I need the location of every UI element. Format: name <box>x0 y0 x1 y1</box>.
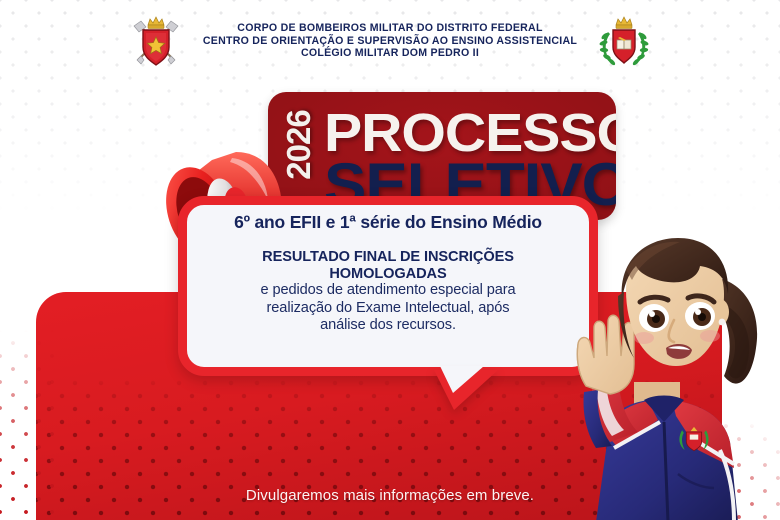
header-institution-text: CORPO DE BOMBEIROS MILITAR DO DISTRITO F… <box>184 22 596 60</box>
speech-bubble-content: 6º ano EFII e 1ª série do Ensino Médio R… <box>192 212 584 335</box>
poster-header: CORPO DE BOMBEIROS MILITAR DO DISTRITO F… <box>0 10 780 72</box>
colegio-militar-dom-pedro-ii-crest-icon <box>596 12 652 70</box>
header-line-2: CENTRO DE ORIENTAÇÃO E SUPERVISÃO AO ENS… <box>200 35 580 48</box>
header-line-1: CORPO DE BOMBEIROS MILITAR DO DISTRITO F… <box>200 22 580 35</box>
result-headline-1: RESULTADO FINAL DE INSCRIÇÕES <box>192 249 584 266</box>
waving-student-illustration <box>548 236 780 520</box>
cbmdf-coat-of-arms-icon <box>128 12 184 70</box>
announcement-speech-bubble: 6º ano EFII e 1ª série do Ensino Médio R… <box>178 196 598 416</box>
speech-bubble-tail-inner <box>440 366 484 393</box>
footer-note: Divulgaremos mais informações em breve. <box>0 487 780 504</box>
result-body-1: e pedidos de atendimento especial para <box>192 282 584 300</box>
result-body-3: análise dos recursos. <box>192 317 584 335</box>
result-headline-2: HOMOLOGADAS <box>192 266 584 283</box>
result-body-2: realização do Exame Intelectual, após <box>192 300 584 318</box>
grade-line: 6º ano EFII e 1ª série do Ensino Médio <box>192 212 584 233</box>
poster-canvas: CORPO DE BOMBEIROS MILITAR DO DISTRITO F… <box>0 0 780 520</box>
header-line-3: COLÉGIO MILITAR DOM PEDRO II <box>200 47 580 60</box>
